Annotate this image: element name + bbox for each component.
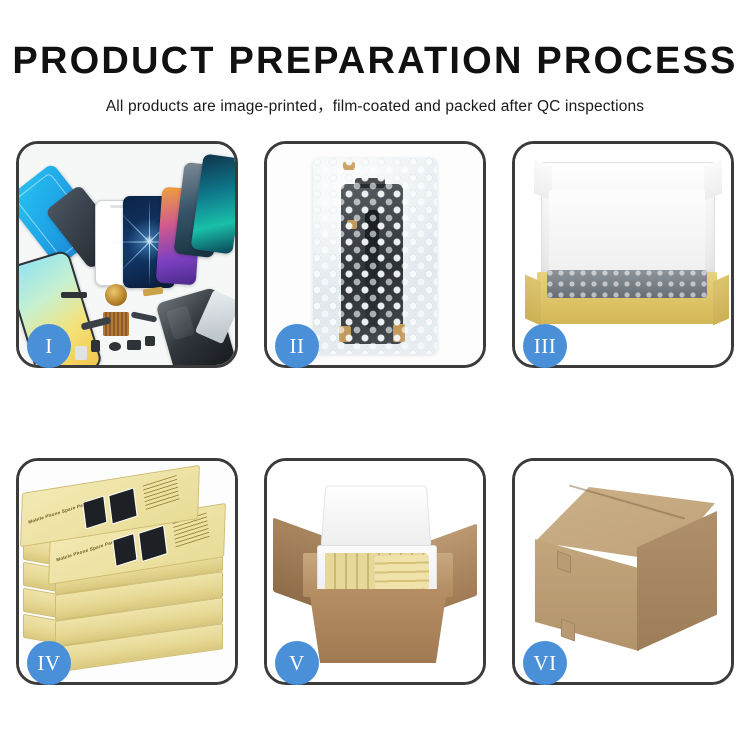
bubble-highlight-graphic [313,158,437,354]
step-badge-2: II [275,324,319,368]
bubble-wrap-bag-graphic [313,158,437,354]
component-graphic [127,340,141,350]
page-title: PRODUCT PREPARATION PROCESS [0,0,750,82]
step-badge-5: V [275,641,319,685]
wrapped-parts-row-graphic [547,270,707,298]
component-graphic [61,292,87,298]
step-badge-1: I [27,324,71,368]
speaker-component-graphic [105,284,127,306]
box-label-text: Mobile Phone Spare Parts [56,538,118,562]
process-step-panel-5: V [264,458,486,685]
product-swatch-graphic [138,525,167,562]
component-graphic [145,336,155,346]
process-step-panel-3: III [512,141,734,368]
process-step-panel-6: VI [512,458,734,685]
gold-connector-graphic [143,287,164,297]
carton-front-wall-graphic [309,589,447,663]
foam-lid-graphic [321,486,432,548]
page-subtitle: All products are image-printed，film-coat… [0,82,750,116]
product-swatch-graphic [82,495,107,529]
process-step-panel-1: I [16,141,238,368]
foam-sheet-graphic [549,190,705,270]
component-graphic [91,340,100,352]
box-label-text: Mobile Phone Spare Parts [28,501,90,525]
box-spec-lines-graphic [143,475,180,511]
carton-tape-graphic [561,618,575,641]
inner-yellow-boxes-graphic [375,555,430,590]
flex-cable-graphic [131,311,158,322]
process-step-panel-4: Mobile Phone Spare Parts Mobile Phone Sp… [16,458,238,685]
component-graphic [109,342,121,351]
carton-left-face-graphic [535,539,639,651]
product-swatch-graphic [112,533,137,567]
header: PRODUCT PREPARATION PROCESS All products… [0,0,750,116]
step-badge-4: IV [27,641,71,685]
process-step-panel-2: II [264,141,486,368]
component-graphic [75,346,87,360]
product-swatch-graphic [108,487,137,524]
step-badge-6: VI [523,641,567,685]
process-step-grid: I II [16,141,734,686]
step-badge-3: III [523,324,567,368]
